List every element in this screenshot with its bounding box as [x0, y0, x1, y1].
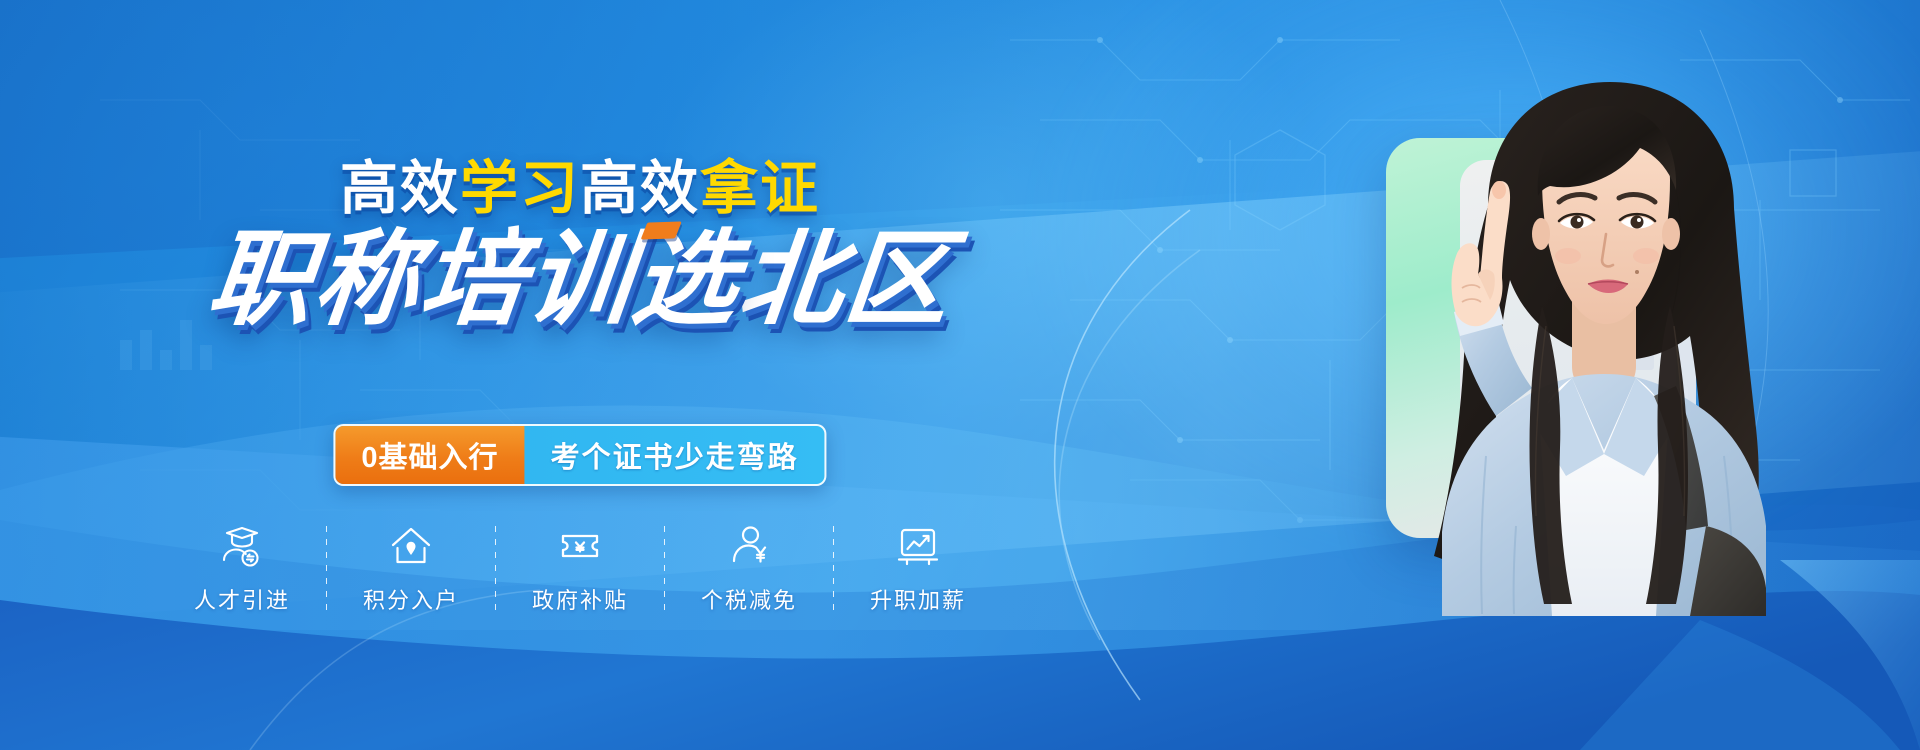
feature-item-tax-reduction[interactable]: 个税减免	[665, 522, 833, 615]
headline-main-accent-group: 选	[628, 228, 745, 332]
headline-main-part-3: 北区	[733, 222, 957, 338]
headline-sub-seg-0: 高效	[340, 156, 460, 221]
promo-banner: 高效学习高效拿证 职称培训选北区 0基础入行 考个证书少走弯路	[0, 0, 1920, 750]
feature-row: 人才引进 积分入户	[158, 522, 1002, 615]
person-yuan-icon	[726, 522, 772, 570]
cta-badge[interactable]: 0基础入行	[335, 426, 524, 484]
feature-label: 人才引进	[194, 583, 290, 615]
graduate-cap-person-icon	[219, 522, 265, 570]
headline-sub-seg-3: 拿证	[700, 156, 820, 221]
presenter-photo	[1310, 56, 1870, 616]
headline-sub-seg-1: 学习	[460, 156, 580, 221]
hero-photo-zone	[1160, 0, 1920, 750]
feature-item-government-subsidy[interactable]: 政府补贴	[496, 522, 664, 615]
feature-label: 积分入户	[363, 583, 459, 615]
feature-item-promotion-raise[interactable]: 升职加薪	[834, 522, 1002, 615]
banner-content: 高效学习高效拿证 职称培训选北区 0基础入行 考个证书少走弯路	[0, 0, 1160, 750]
cta-message[interactable]: 考个证书少走弯路	[525, 426, 825, 484]
feature-label: 政府补贴	[532, 583, 628, 615]
headline-main: 职称培训选北区	[0, 228, 1165, 332]
headline-main-part-1: 职称培训	[203, 222, 639, 338]
feature-label: 升职加薪	[870, 583, 966, 615]
headline-sub-seg-2: 高效	[580, 156, 700, 221]
feature-label: 个税减免	[701, 583, 797, 615]
growth-chart-icon	[895, 522, 941, 570]
orange-accent-mark-icon	[641, 221, 682, 239]
cta-pill[interactable]: 0基础入行 考个证书少走弯路	[333, 424, 826, 486]
feature-item-points-residency[interactable]: 积分入户	[327, 522, 495, 615]
headline-subtitle: 高效学习高效拿证	[0, 160, 1160, 218]
ticket-yuan-icon	[557, 522, 603, 570]
house-pin-icon	[388, 522, 434, 570]
feature-item-talent-introduction[interactable]: 人才引进	[158, 522, 326, 615]
